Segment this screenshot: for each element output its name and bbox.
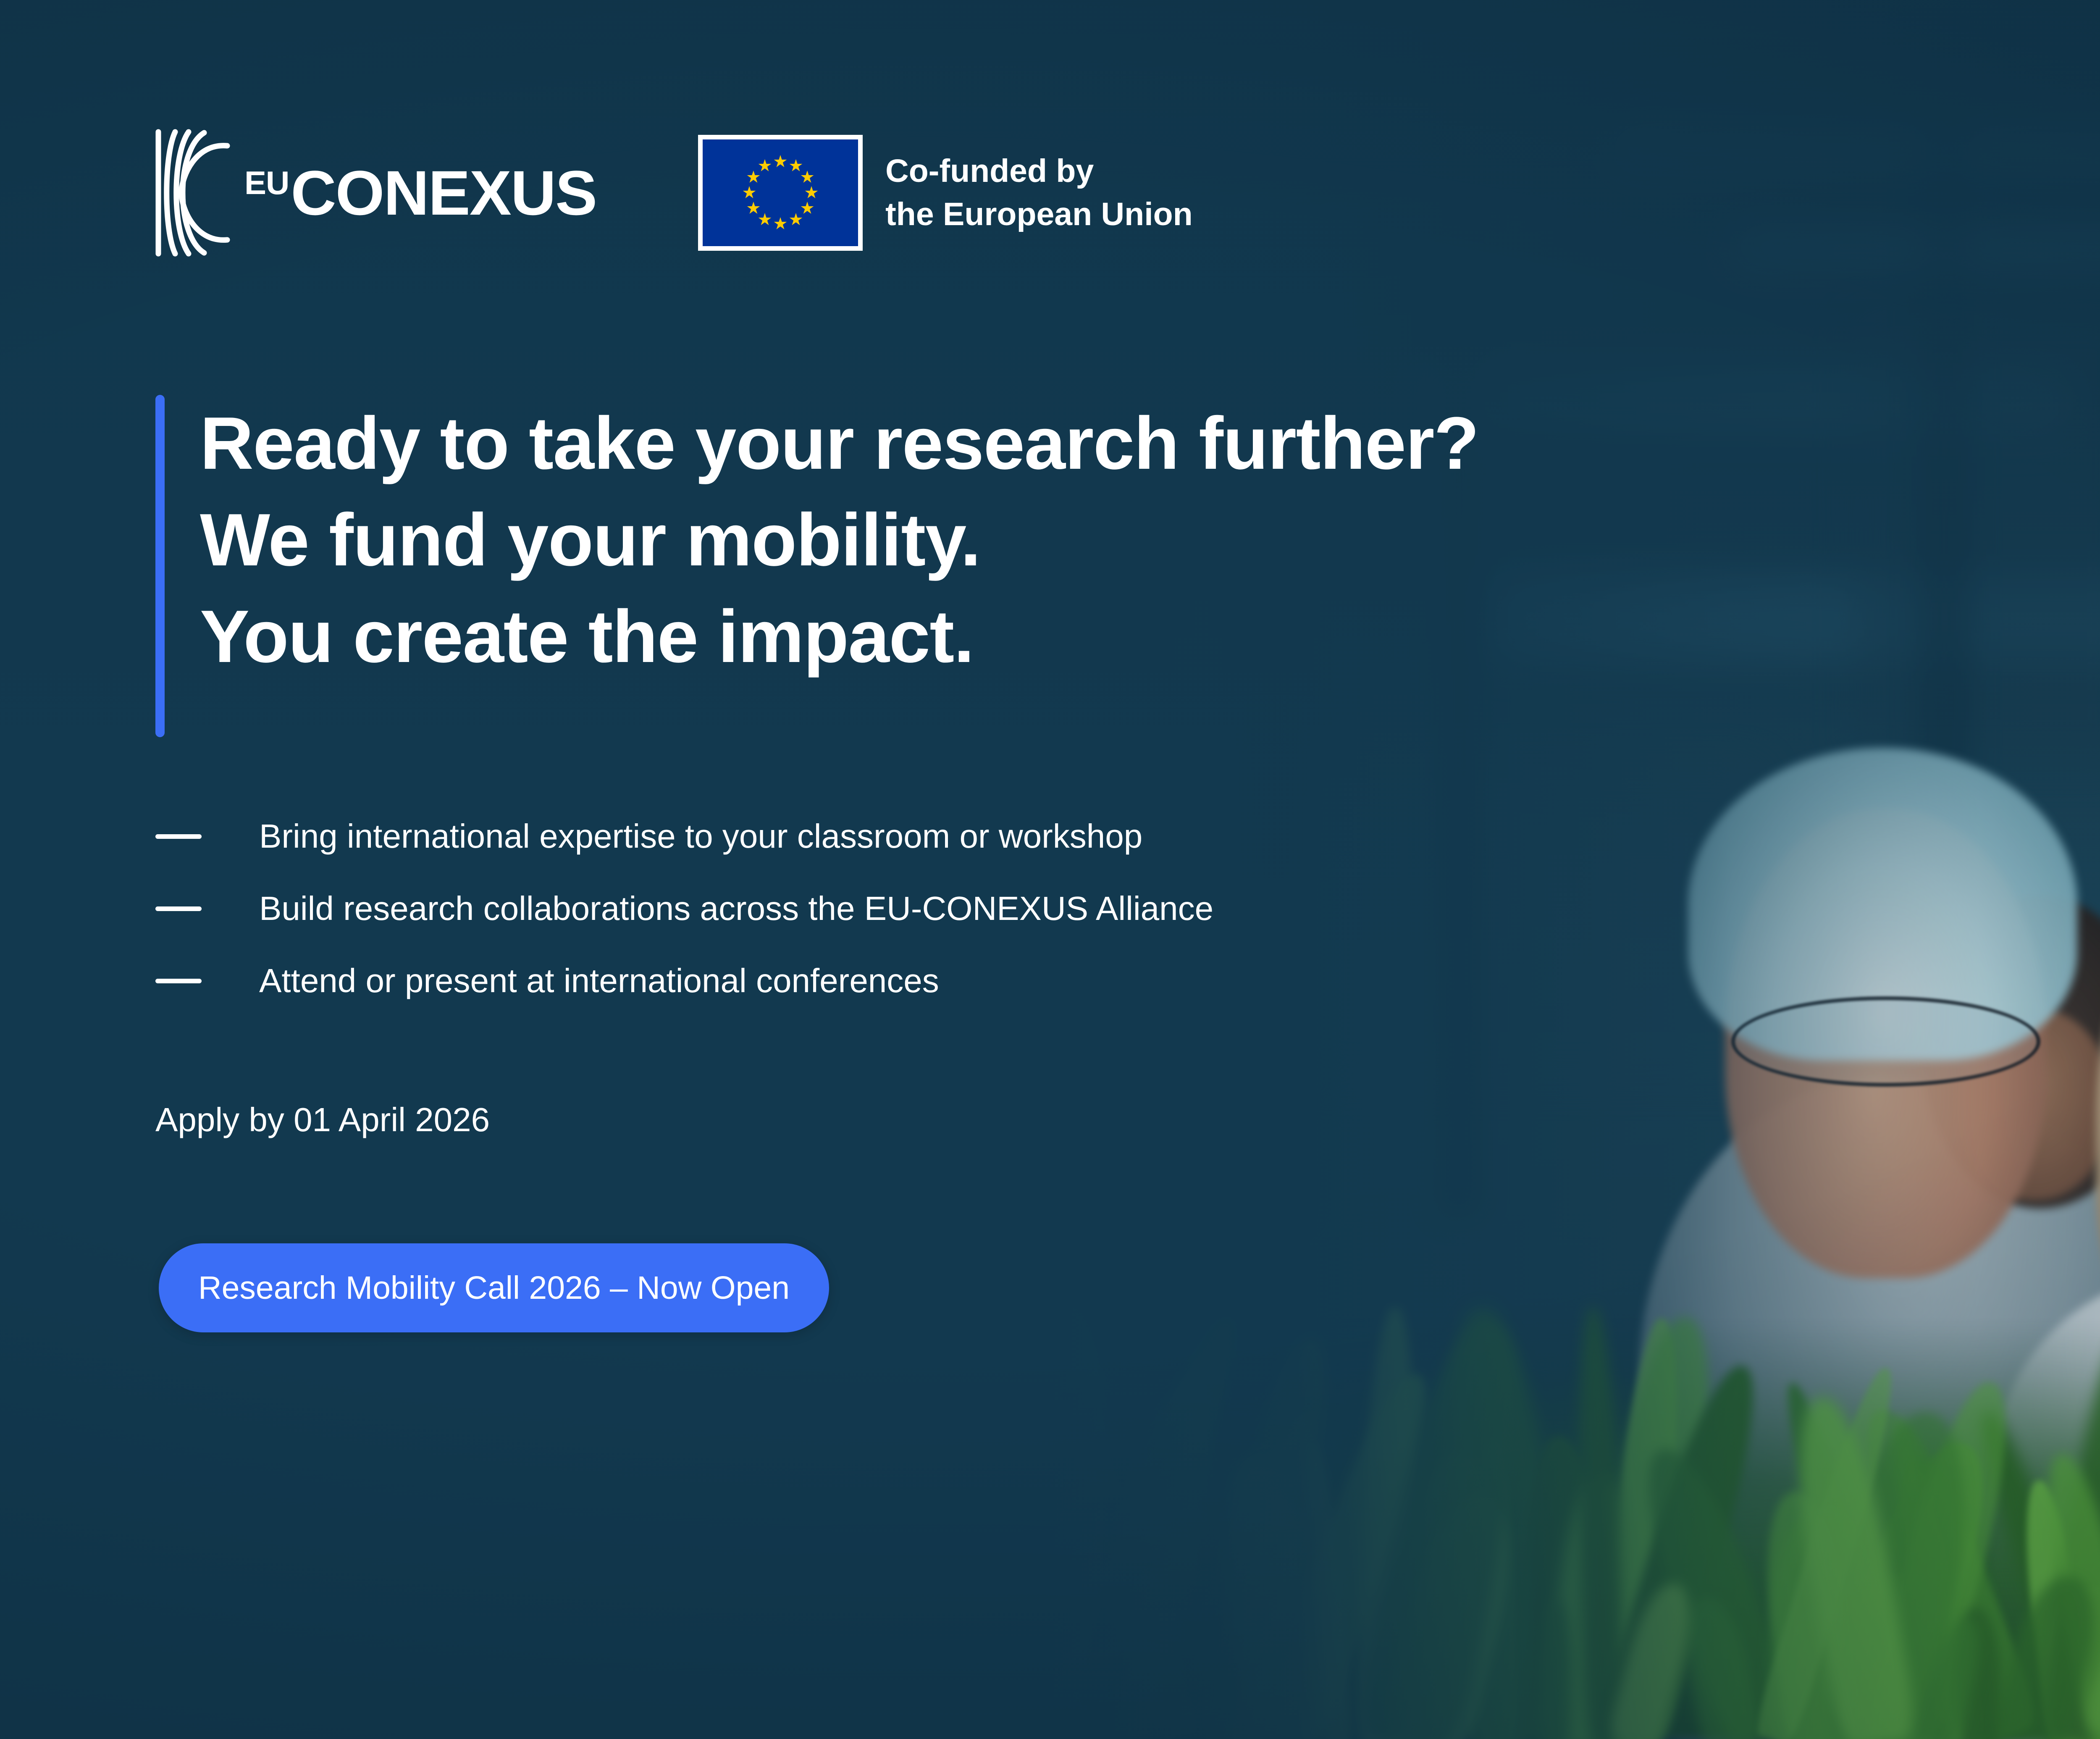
eu-funding-lockup: Co-funded by the European Union [698, 135, 1193, 251]
co-funded-text: Co-funded by the European Union [885, 150, 1193, 236]
logo-row: EU CONEXUS Co-funded by the European Uni… [155, 126, 1193, 260]
application-deadline: Apply by 01 April 2026 [155, 1101, 490, 1139]
headline-block: Ready to take your research further? We … [155, 395, 1479, 737]
co-funded-line-2: the European Union [885, 193, 1193, 236]
european-union-flag [698, 135, 863, 251]
wordmark-eu-superscript: EU [244, 166, 289, 199]
benefit-text: Build research collaborations across the… [259, 888, 1213, 929]
eu-flag-stars [703, 139, 858, 246]
banner-content: EU CONEXUS Co-funded by the European Uni… [0, 0, 2100, 1739]
headline-line-1: Ready to take your research further? [200, 395, 1479, 491]
dash-bullet-icon [155, 834, 202, 839]
list-item: Bring international expertise to your cl… [155, 800, 1213, 872]
dash-bullet-icon [155, 906, 202, 911]
promotional-banner: EU CONEXUS Co-funded by the European Uni… [0, 0, 2100, 1739]
eu-conexus-logo[interactable]: EU CONEXUS [155, 126, 596, 260]
list-item: Attend or present at international confe… [155, 945, 1213, 1017]
benefit-text: Attend or present at international confe… [259, 961, 939, 1001]
wordmark-conexus: CONEXUS [291, 161, 596, 224]
eu-conexus-arcs-mark [155, 126, 230, 260]
benefit-text: Bring international expertise to your cl… [259, 816, 1142, 856]
research-mobility-call-button[interactable]: Research Mobility Call 2026 – Now Open [159, 1243, 829, 1332]
co-funded-line-1: Co-funded by [885, 150, 1193, 193]
accent-bar [155, 395, 165, 737]
eu-conexus-wordmark: EU CONEXUS [244, 161, 596, 224]
headline-line-2: We fund your mobility. [200, 491, 1479, 588]
headline-line-3: You create the impact. [200, 588, 1479, 685]
list-item: Build research collaborations across the… [155, 872, 1213, 945]
page-title: Ready to take your research further? We … [200, 395, 1479, 737]
benefits-list: Bring international expertise to your cl… [155, 800, 1213, 1017]
dash-bullet-icon [155, 979, 202, 983]
